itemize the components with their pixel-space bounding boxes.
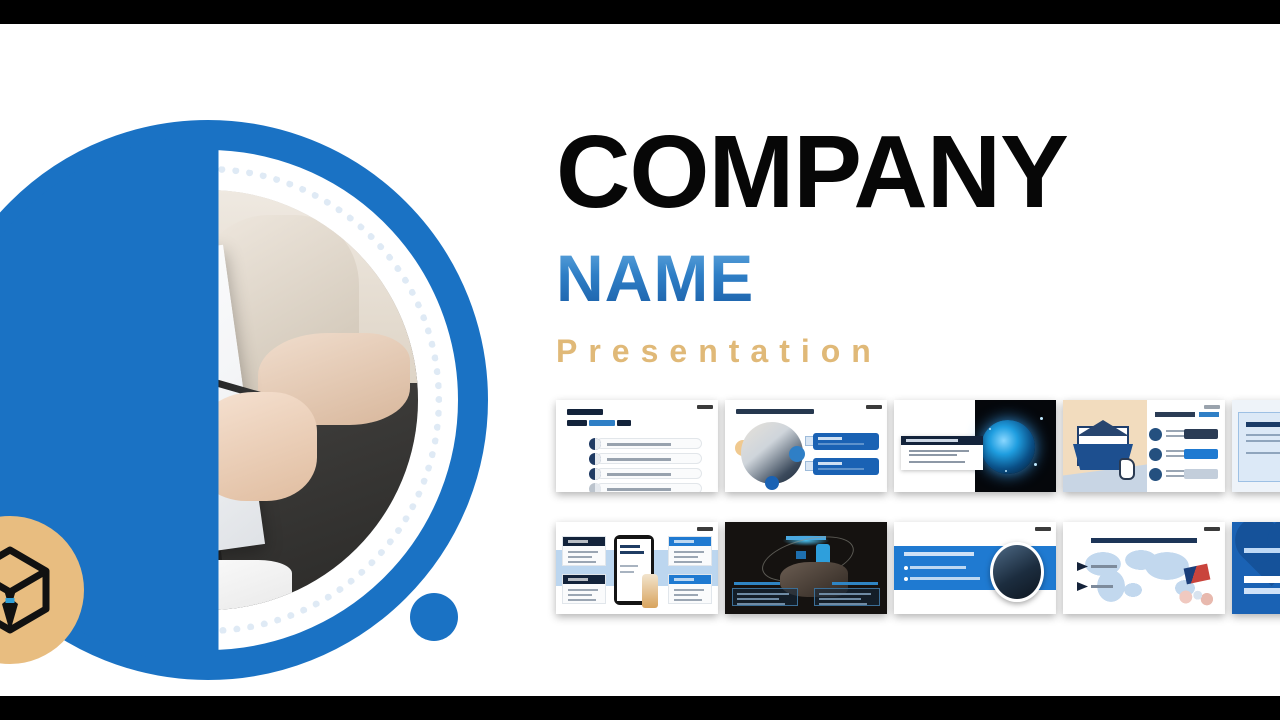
slide-thumb-tablet-flow[interactable] <box>556 522 718 614</box>
letterbox-top <box>0 0 1280 24</box>
slide-thumbnail-grid <box>556 400 1280 620</box>
slide-thumb-blue-band-photo[interactable] <box>894 522 1056 614</box>
letterbox-bottom <box>0 696 1280 720</box>
slide-canvas: COMPANY NAME Presentation <box>0 0 1280 720</box>
page-subtitle: Presentation <box>556 335 1256 367</box>
slide-thumb-envelope-contact[interactable] <box>1063 400 1225 492</box>
page-title-name: NAME <box>556 245 1256 311</box>
cube-with-necktie-icon <box>0 540 60 640</box>
accent-dot <box>410 593 458 641</box>
slide-thumb-dark-tech-hand[interactable] <box>725 522 887 614</box>
page-title-company: COMPANY <box>556 120 1256 223</box>
slide-thumb-team-photo[interactable] <box>725 400 887 492</box>
slide-thumb-about-list[interactable] <box>556 400 718 492</box>
presentation-slide: COMPANY NAME Presentation <box>0 24 1280 696</box>
slide-thumb-world-map[interactable] <box>1063 522 1225 614</box>
title-block: COMPANY NAME Presentation <box>556 120 1256 367</box>
hero-circle-graphic <box>0 120 488 680</box>
slide-thumb-stripes-globe[interactable] <box>894 400 1056 492</box>
slide-thumb-blue-document[interactable] <box>1232 400 1280 492</box>
slide-thumb-blue-heart-cover[interactable] <box>1232 522 1280 614</box>
